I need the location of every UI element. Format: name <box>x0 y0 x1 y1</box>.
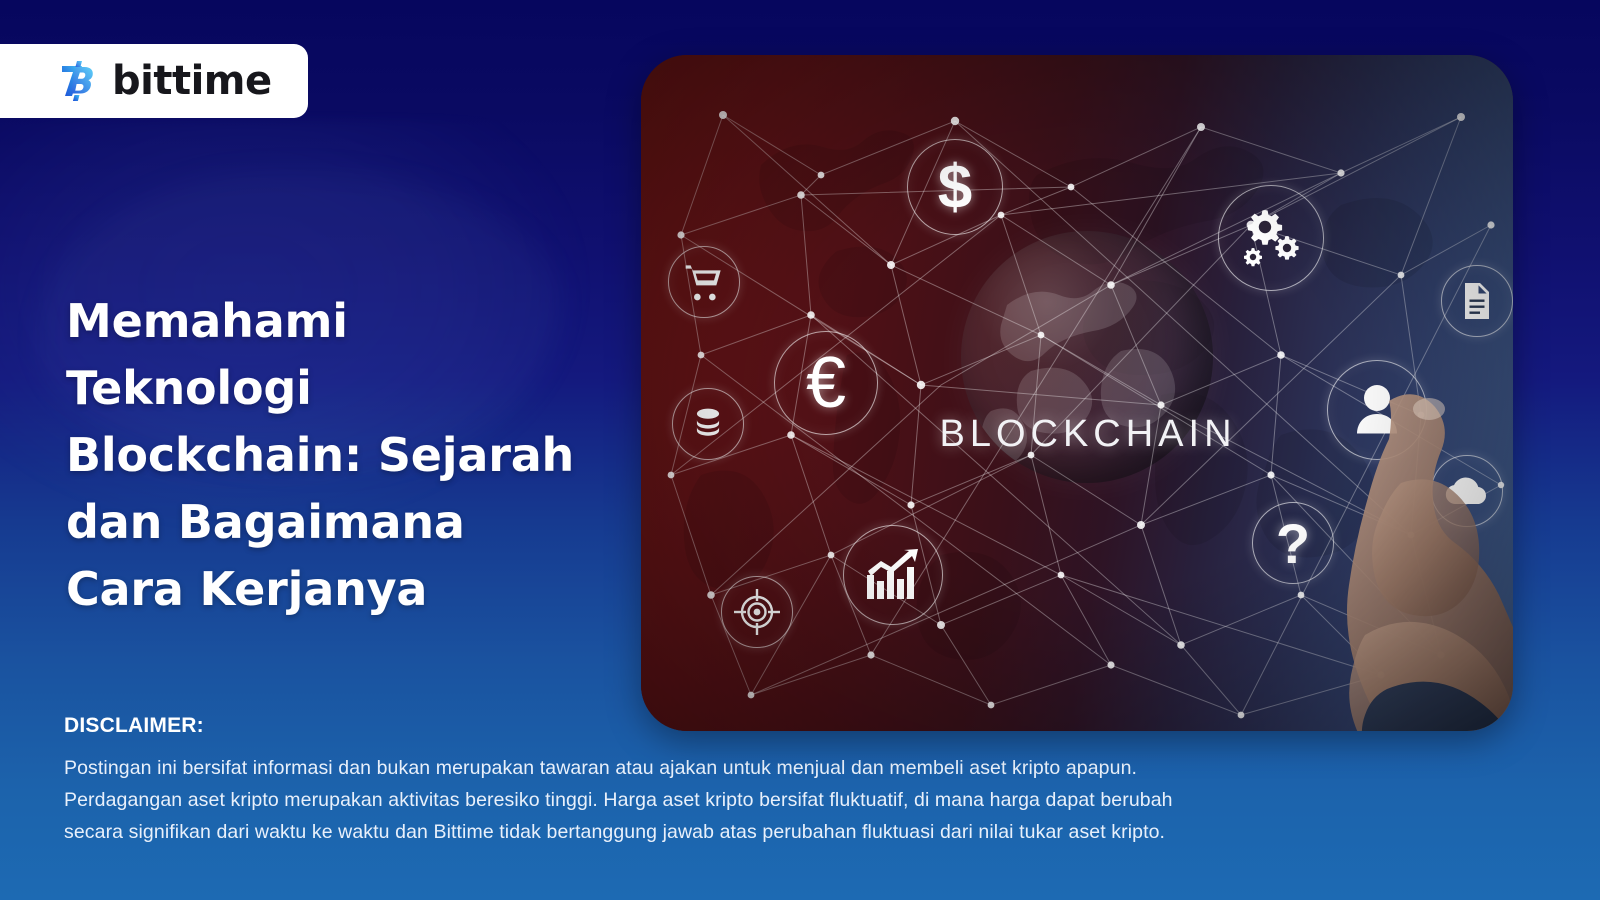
headline-line-1: Memahami <box>66 288 611 355</box>
disclaimer-line-3: secara signifikan dari waktu ke waktu da… <box>64 816 1484 848</box>
brand-logo[interactable]: bittime <box>0 44 308 118</box>
brand-wordmark: bittime <box>112 61 272 101</box>
disclaimer-line-1: Postingan ini bersifat informasi dan buk… <box>64 752 1484 784</box>
bittime-b-logo-icon <box>58 57 100 105</box>
headline-line-2: Teknologi <box>66 355 611 422</box>
hero-image-card: $ € <box>641 55 1513 731</box>
disclaimer-line-2: Perdagangan aset kripto merupakan aktivi… <box>64 784 1484 816</box>
headline-line-5: Cara Kerjanya <box>66 556 611 623</box>
headline-line-4: dan Bagaimana <box>66 489 611 556</box>
disclaimer-title: DISCLAIMER: <box>64 714 204 738</box>
headline-line-3: Blockchain: Sejarah <box>66 422 611 489</box>
page-title: Memahami Teknologi Blockchain: Sejarah d… <box>66 288 611 623</box>
disclaimer-body: Postingan ini bersifat informasi dan buk… <box>64 752 1484 848</box>
promo-banner: bittime Memahami Teknologi Blockchain: S… <box>0 0 1600 900</box>
photo-vignette <box>641 55 1513 731</box>
